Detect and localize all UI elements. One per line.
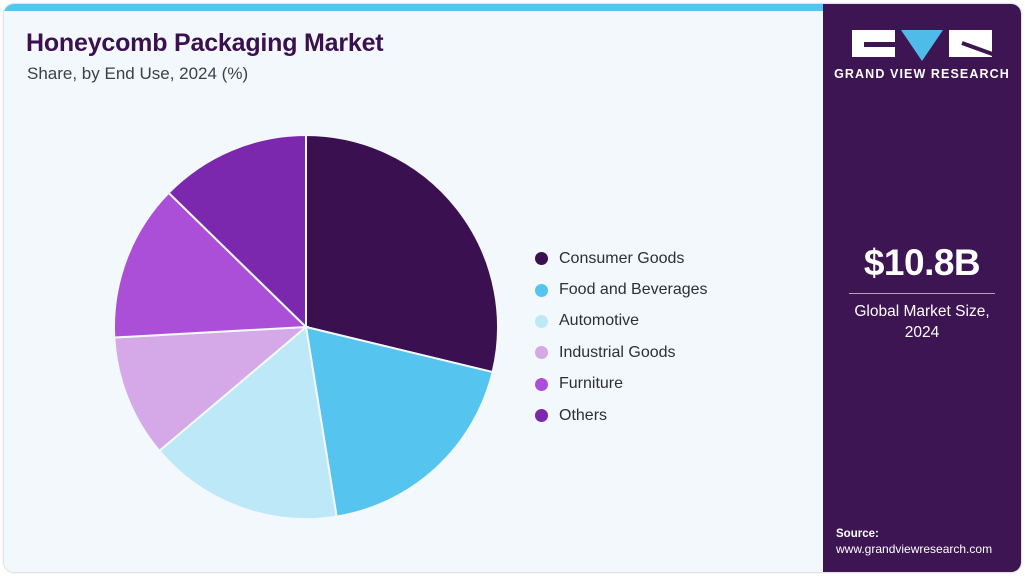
- legend-swatch-icon: [535, 409, 548, 422]
- brand-logo: GRAND VIEW RESEARCH: [823, 30, 1021, 81]
- legend-swatch-icon: [535, 252, 548, 265]
- legend-item[interactable]: Others: [535, 400, 708, 431]
- legend-item-label: Food and Beverages: [559, 281, 708, 299]
- chart-card: Honeycomb Packaging Market Share, by End…: [4, 4, 1021, 572]
- market-size-caption: Global Market Size, 2024: [823, 302, 1021, 344]
- legend-item[interactable]: Consumer Goods: [535, 243, 708, 274]
- page-subtitle: Share, by End Use, 2024 (%): [27, 64, 248, 84]
- callout-divider: [849, 293, 995, 294]
- logo-wordmark: GRAND VIEW RESEARCH: [823, 67, 1021, 81]
- legend-item-label: Furniture: [559, 375, 623, 393]
- chart-infographic: Honeycomb Packaging Market Share, by End…: [0, 0, 1025, 576]
- legend-item[interactable]: Furniture: [535, 369, 708, 400]
- source-block: Source: www.grandviewresearch.com: [836, 528, 1016, 556]
- logo-marks: [823, 30, 1021, 60]
- gvr-r-icon: [949, 30, 992, 57]
- gvr-g-icon: [852, 30, 895, 57]
- legend-swatch-icon: [535, 378, 548, 391]
- source-url[interactable]: www.grandviewresearch.com: [836, 542, 1016, 556]
- market-size-callout: $10.8B Global Market Size, 2024: [823, 242, 1021, 344]
- legend-item-label: Others: [559, 407, 607, 425]
- legend-item[interactable]: Food and Beverages: [535, 274, 708, 305]
- pie-chart-svg: [111, 132, 501, 522]
- legend-item-label: Industrial Goods: [559, 344, 676, 362]
- legend-swatch-icon: [535, 284, 548, 297]
- chart-content-area: Honeycomb Packaging Market Share, by End…: [4, 11, 823, 572]
- legend-item[interactable]: Industrial Goods: [535, 337, 708, 368]
- source-label: Source:: [836, 528, 1016, 540]
- gvr-triangle-icon: [901, 30, 943, 61]
- chart-legend: Consumer GoodsFood and BeveragesAutomoti…: [535, 243, 708, 431]
- pie-chart: [111, 132, 501, 522]
- legend-item-label: Consumer Goods: [559, 250, 684, 268]
- legend-item-label: Automotive: [559, 312, 639, 330]
- legend-item[interactable]: Automotive: [535, 306, 708, 337]
- page-title: Honeycomb Packaging Market: [26, 29, 383, 58]
- legend-swatch-icon: [535, 346, 548, 359]
- brand-panel: GRAND VIEW RESEARCH $10.8B Global Market…: [823, 4, 1021, 572]
- market-size-value: $10.8B: [823, 242, 1021, 284]
- legend-swatch-icon: [535, 315, 548, 328]
